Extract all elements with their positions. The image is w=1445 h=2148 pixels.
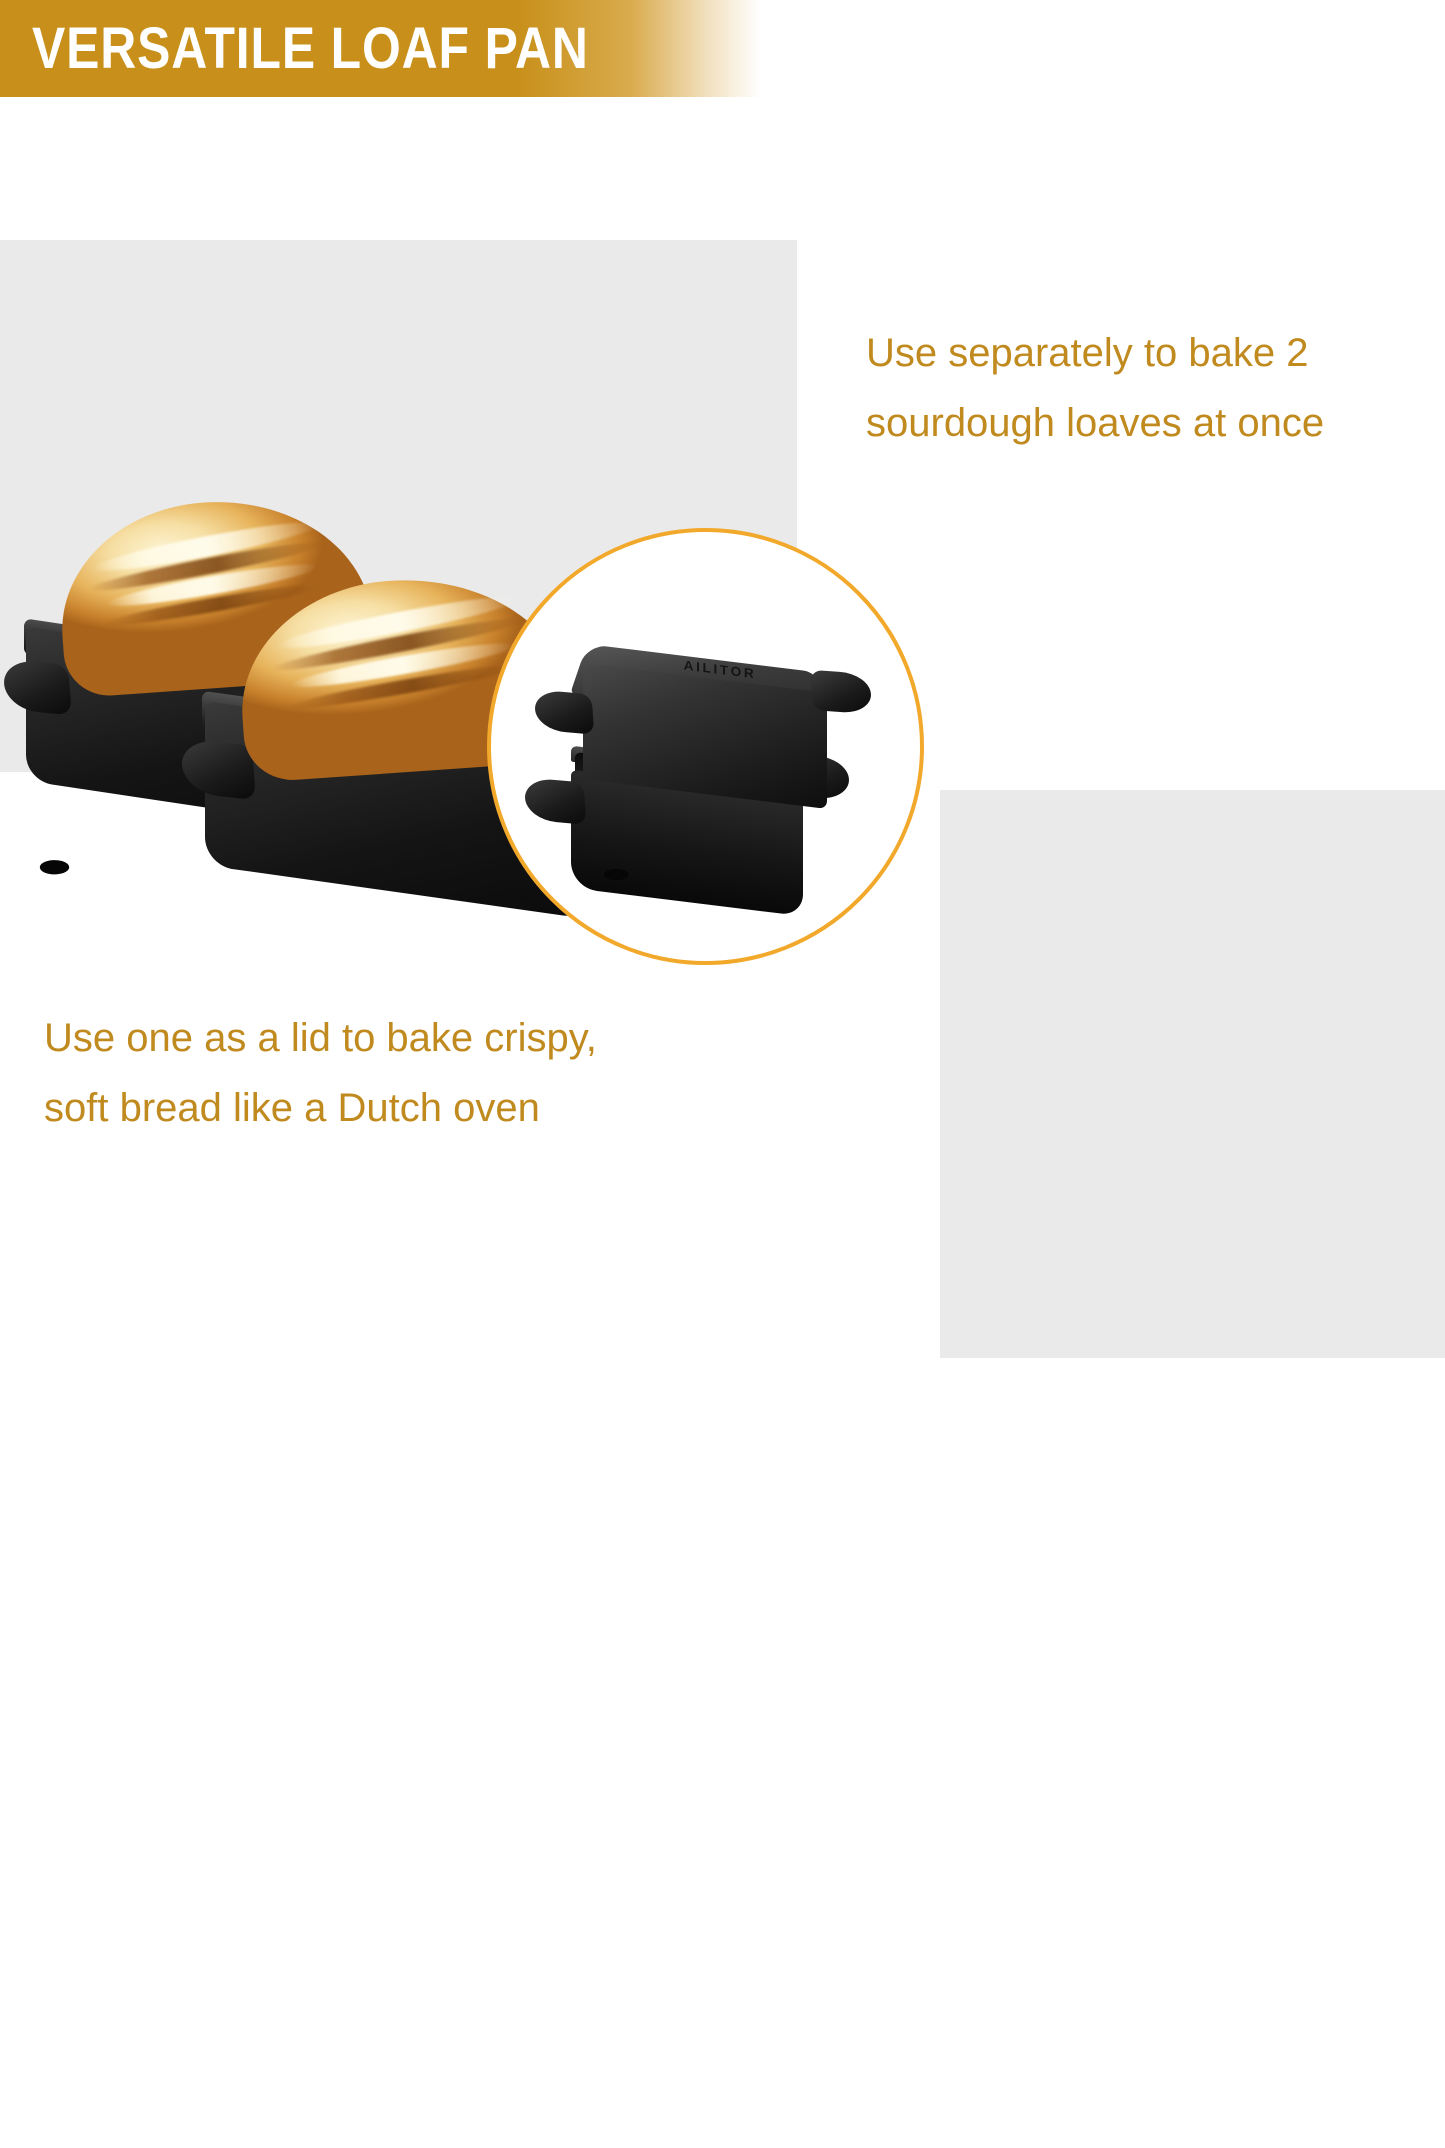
page-title: VERSATILE LOAF PAN (32, 9, 634, 89)
product-photo-dutch-oven-bake: AILITOR (940, 790, 1445, 1358)
circle-inset-lid-configuration: AILITOR (487, 528, 924, 965)
callout-text-bottom-left: Use one as a lid to bake crispy, soft br… (44, 1003, 624, 1143)
header-banner: VERSATILE LOAF PAN (0, 0, 760, 97)
lid-handle-left (534, 689, 595, 734)
handle-slot-icon (38, 859, 70, 875)
back-pan-handle-left (2, 659, 72, 715)
lower-pan-handle-left (524, 777, 587, 825)
lid-handle-right (810, 670, 872, 714)
callout-text-top-right: Use separately to bake 2 sourdough loave… (866, 318, 1406, 458)
pan-with-lid-scene: AILITOR (491, 532, 924, 965)
